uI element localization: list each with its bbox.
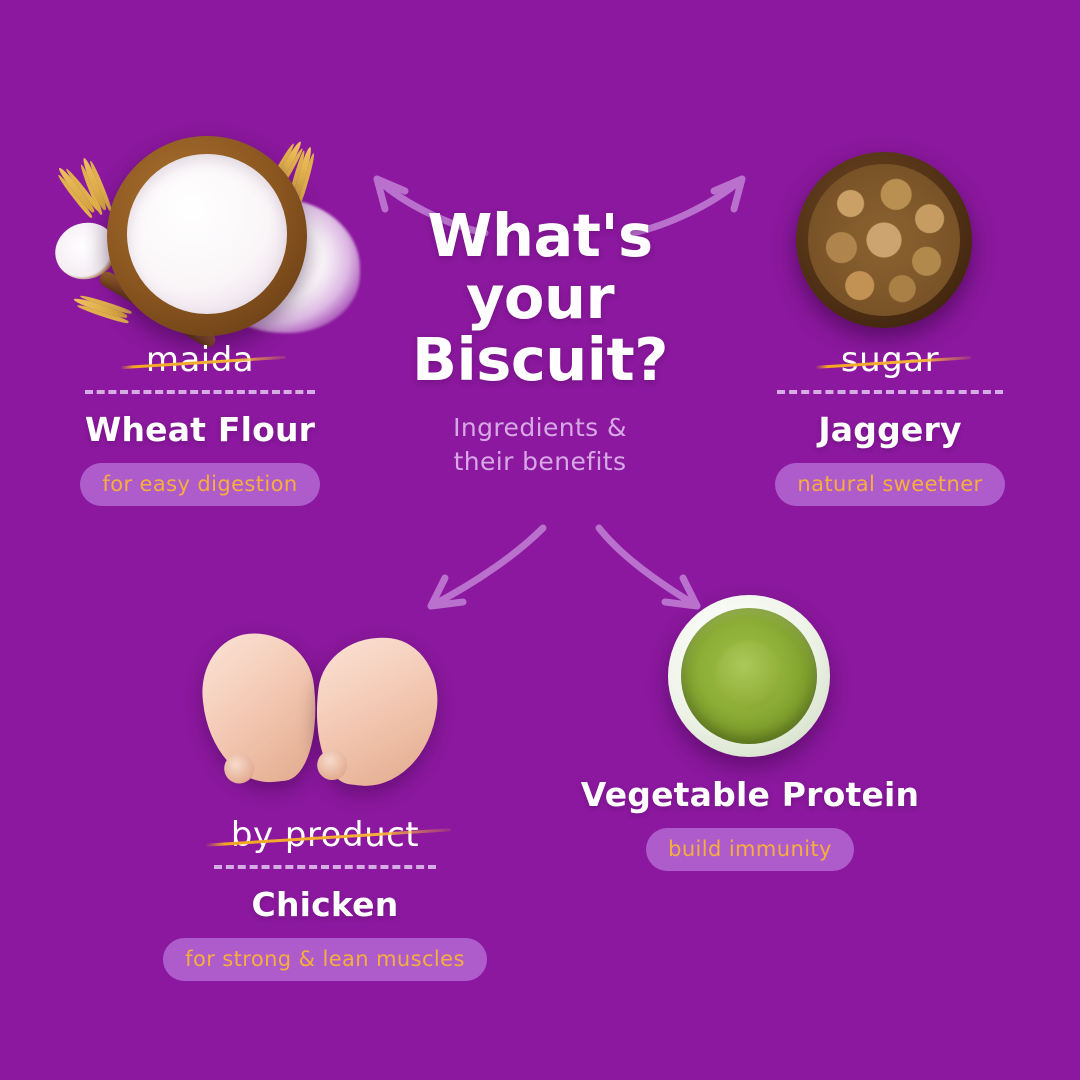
chicken-leg-quarter — [307, 630, 444, 794]
jaggery-chunks — [808, 164, 960, 316]
ingredients-infographic: What's your Biscuit? Ingredients & their… — [0, 0, 1080, 1080]
crossed-out-wrapper: by product — [217, 815, 433, 855]
chicken-leg-quarter — [196, 628, 323, 789]
powder-mound — [716, 641, 781, 709]
white-flour — [127, 154, 287, 314]
ingredient-jaggery: sugar Jaggery natural sweetner — [745, 340, 1035, 506]
benefit-badge: build immunity — [646, 828, 854, 871]
arrow-bottom-right-icon — [585, 520, 735, 625]
arrow-bottom-left-icon — [405, 520, 555, 625]
crossed-out-wrapper: maida — [132, 340, 268, 380]
dashed-divider — [85, 390, 315, 394]
page-title: What's your Biscuit? — [380, 205, 700, 391]
page-subtitle: Ingredients & their benefits — [380, 411, 700, 479]
ingredient-wheat-flour: maida Wheat Flour for easy digestion — [45, 340, 355, 506]
wooden-bowl — [107, 136, 307, 336]
benefit-badge: for strong & lean muscles — [163, 938, 487, 981]
flour-bowl-photo — [45, 128, 365, 343]
dark-wooden-bowl — [796, 152, 972, 328]
dashed-divider — [777, 390, 1003, 394]
wheat-stalk-icon — [73, 296, 128, 320]
ingredient-name: Wheat Flour — [45, 410, 355, 449]
ingredient-name: Chicken — [160, 885, 490, 924]
drumstick-tip — [315, 748, 348, 781]
center-title-block: What's your Biscuit? Ingredients & their… — [380, 205, 700, 479]
drumstick-tip — [223, 752, 256, 785]
ingredient-vegetable-protein: Vegetable Protein build immunity — [580, 775, 920, 871]
crossed-out-wrapper: sugar — [827, 340, 953, 380]
dashed-divider — [214, 865, 436, 869]
chicken-legs-photo — [198, 625, 448, 790]
ingredient-name: Vegetable Protein — [580, 775, 920, 814]
ingredient-name: Jaggery — [745, 410, 1035, 449]
green-powder — [681, 608, 817, 744]
ingredient-chicken: by product Chicken for strong & lean mus… — [160, 815, 490, 981]
benefit-badge: natural sweetner — [775, 463, 1004, 506]
benefit-badge: for easy digestion — [80, 463, 319, 506]
jaggery-bowl-photo — [796, 152, 972, 328]
